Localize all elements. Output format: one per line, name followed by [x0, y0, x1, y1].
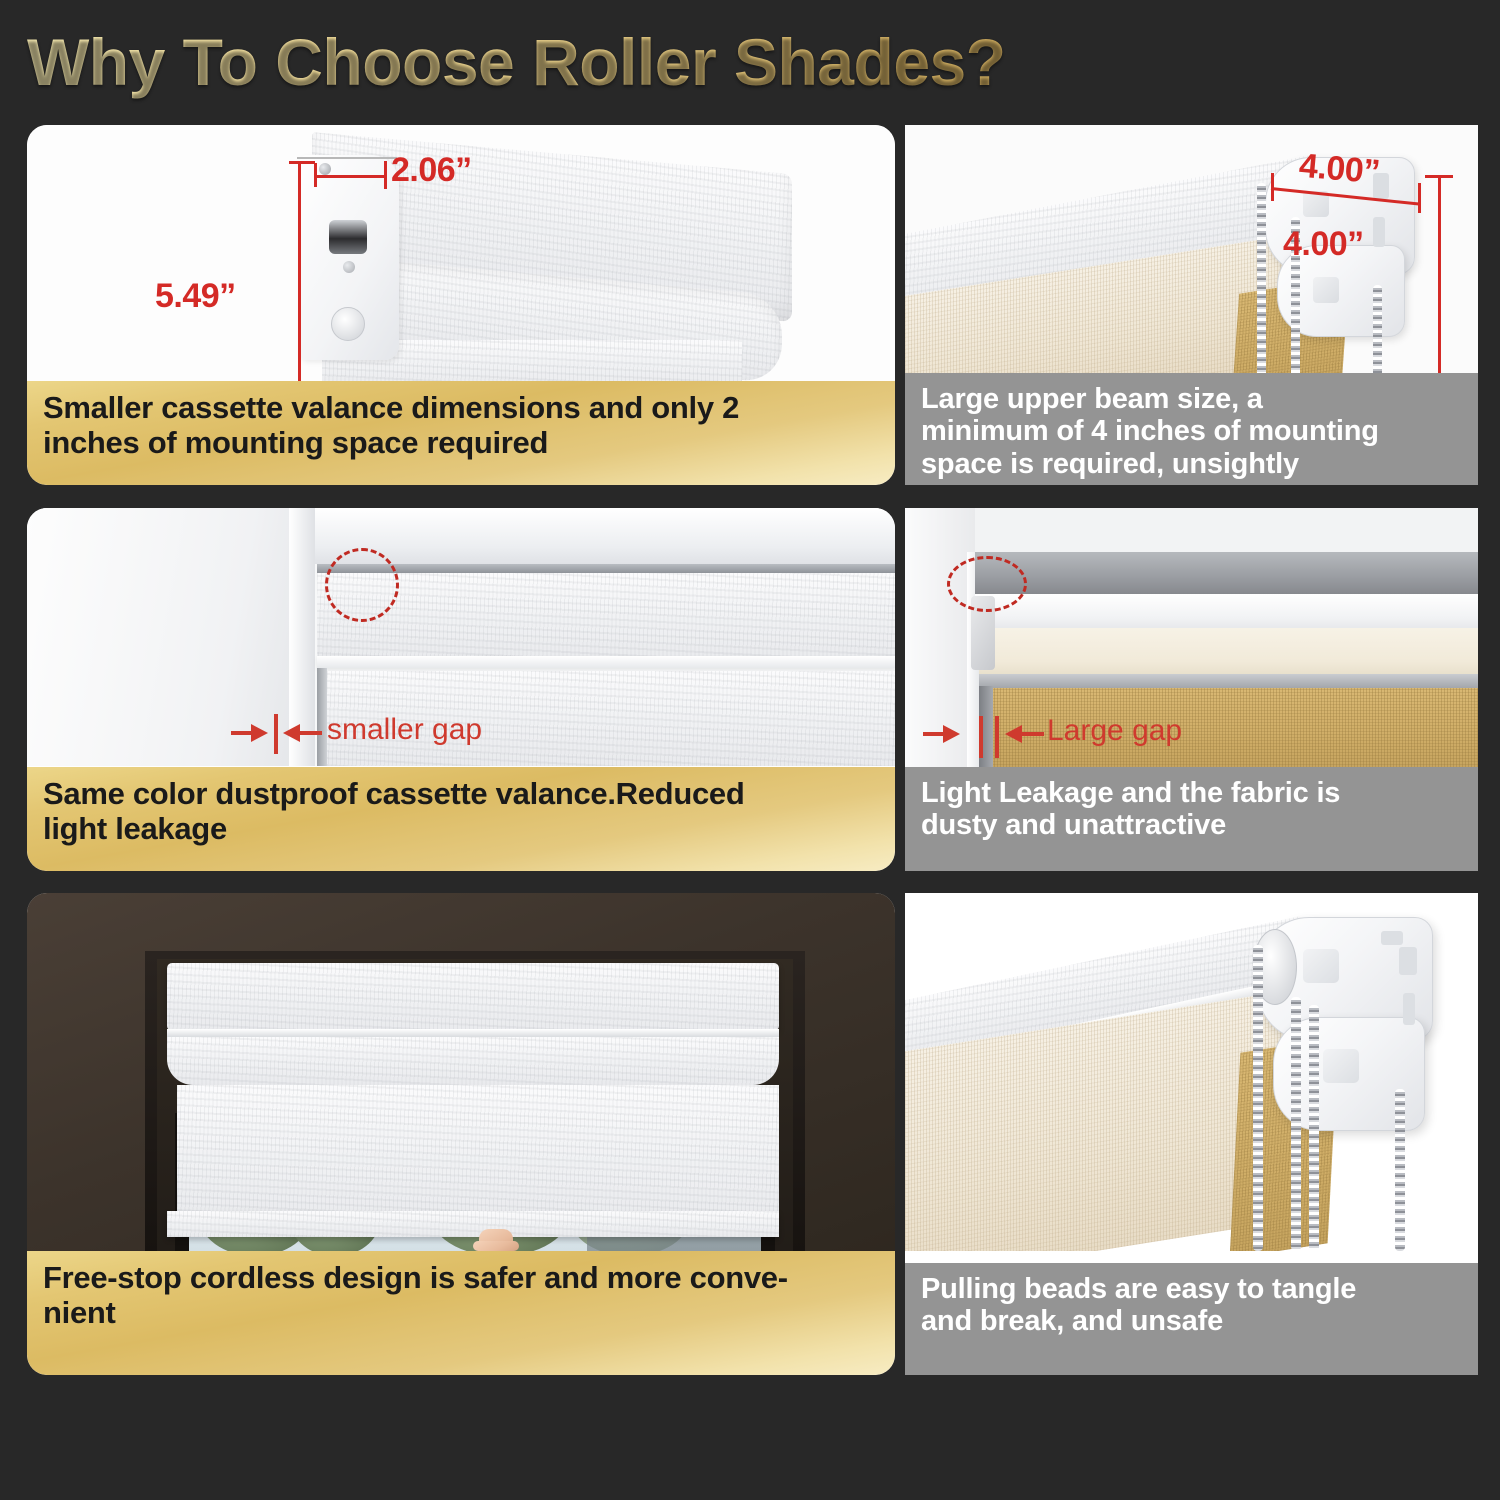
panel-bottom-right-caption: Pulling beads are easy to tangle and bre… — [905, 1263, 1478, 1375]
width-dimension-label: 2.06” — [391, 151, 472, 190]
gap-highlight-circle — [947, 556, 1027, 612]
panel-top-left-image: 2.06” 5.49” — [27, 125, 895, 383]
panel-top-right: 4.00” 4.00” Large upper beam size, a min… — [905, 125, 1478, 485]
panel-middle-right: Large gap Light Leakage and the fabric i… — [905, 508, 1478, 871]
panel-top-left-caption: Smaller cassette valance dimensions and … — [27, 381, 895, 485]
panel-top-left: 2.06” 5.49” Smaller cassette valance dim… — [27, 125, 895, 485]
width-dimension-line — [314, 175, 386, 178]
panel-middle-right-image: Large gap — [905, 508, 1478, 768]
gap-arrow-right-icon — [251, 724, 268, 742]
panel-bottom-right: Pulling beads are easy to tangle and bre… — [905, 893, 1478, 1375]
width-tick-right — [384, 161, 387, 189]
gap-label: smaller gap — [327, 713, 482, 747]
width-tick-left — [314, 163, 317, 187]
gap-arrow-left-icon — [283, 724, 300, 742]
height-tick-top — [289, 161, 315, 164]
panel-top-right-image: 4.00” 4.00” — [905, 125, 1478, 377]
panel-bottom-left-image — [27, 893, 895, 1251]
panel-bottom-left: Free-stop cordless design is safer and m… — [27, 893, 895, 1375]
panel-middle-left-image: smaller gap — [27, 508, 895, 766]
height-dimension-label: 5.49” — [155, 277, 236, 316]
width-dimension-label: 4.00” — [1297, 147, 1381, 193]
gap-highlight-circle — [325, 548, 399, 622]
panel-top-right-caption: Large upper beam size, a minimum of 4 in… — [905, 373, 1478, 485]
panel-middle-right-caption: Light Leakage and the fabric is dusty an… — [905, 767, 1478, 871]
gap-label: Large gap — [1047, 714, 1182, 748]
gap-arrow-right-icon — [943, 725, 960, 743]
page-title: Why To Choose Roller Shades? — [27, 20, 1127, 105]
panel-middle-left-caption: Same color dustproof cassette valance.Re… — [27, 767, 895, 871]
height-dimension-line — [298, 161, 301, 383]
gap-arrow-left-icon — [1005, 725, 1022, 743]
panel-middle-left: smaller gap Same color dustproof cassett… — [27, 508, 895, 871]
panel-bottom-right-image — [905, 893, 1478, 1251]
panel-bottom-left-caption: Free-stop cordless design is safer and m… — [27, 1251, 895, 1375]
height-dimension-label: 4.00” — [1283, 225, 1364, 264]
height-dimension-line — [1438, 175, 1441, 375]
